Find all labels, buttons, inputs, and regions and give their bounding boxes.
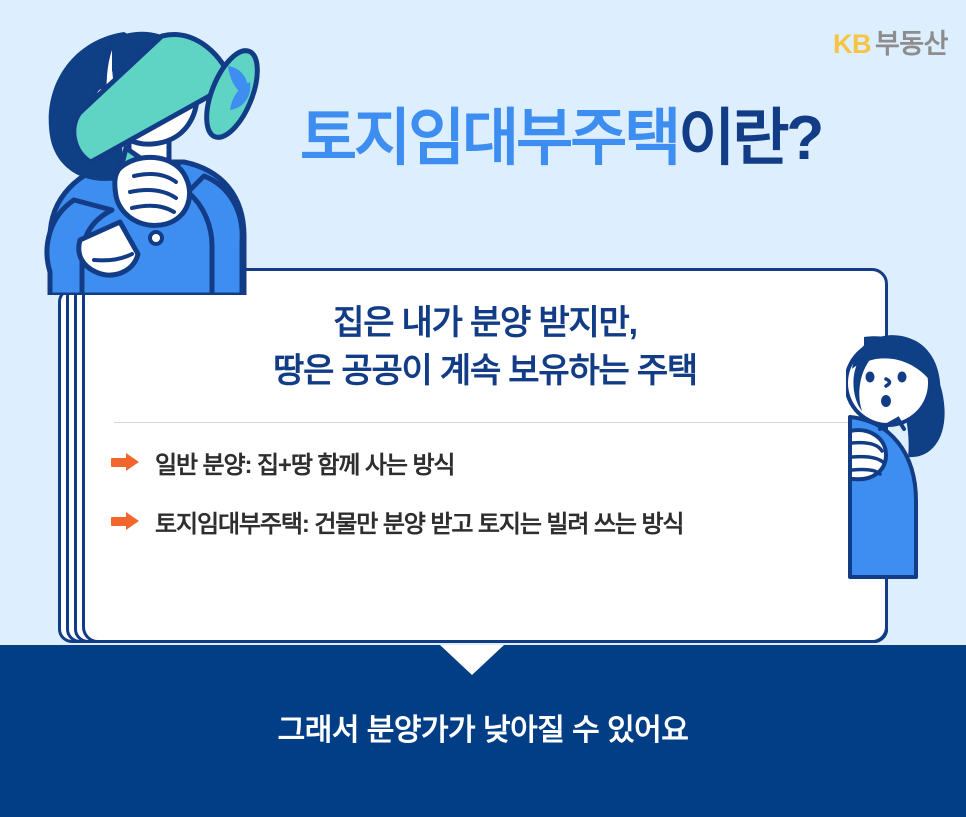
list-item: 토지임대부주택: 건물만 분양 받고 토지는 빌려 쓰는 방식 xyxy=(111,504,885,539)
woman-peeking-illustration xyxy=(846,325,966,645)
woman-with-megaphone-illustration xyxy=(16,10,346,295)
card-title: 집은 내가 분양 받지만, 땅은 공공이 계속 보유하는 주택 xyxy=(85,299,885,396)
bullet-label: 일반 분양: 집+땅 함께 사는 방식 xyxy=(155,445,454,480)
card-title-line-2: 땅은 공공이 계속 보유하는 주택 xyxy=(85,347,885,395)
bullet-label: 토지임대부주택: 건물만 분양 받고 토지는 빌려 쓰는 방식 xyxy=(155,504,683,539)
page-title: 토지임대부주택이란? xyxy=(300,108,821,170)
kb-brand-logo: KB부동산 xyxy=(833,22,948,61)
logo-name: 부동산 xyxy=(875,29,948,59)
banner-text: 그래서 분양가가 낮아질 수 있어요 xyxy=(0,705,966,749)
banner-pointer-notch xyxy=(440,645,504,675)
arrow-right-icon xyxy=(111,451,141,473)
logo-mark: KB xyxy=(833,29,871,59)
list-item: 일반 분양: 집+땅 함께 사는 방식 xyxy=(111,445,885,480)
page-title-highlight: 토지임대부주택 xyxy=(300,104,678,173)
arrow-right-icon xyxy=(111,510,141,532)
page-title-suffix: 이란? xyxy=(678,104,821,173)
card-title-line-1: 집은 내가 분양 받지만, xyxy=(85,299,885,347)
bullet-list: 일반 분양: 집+땅 함께 사는 방식 토지임대부주택: 건물만 분양 받고 토… xyxy=(85,445,885,539)
definition-card: 집은 내가 분양 받지만, 땅은 공공이 계속 보유하는 주택 일반 분양: 집… xyxy=(82,268,888,643)
card-divider xyxy=(114,422,856,423)
infographic-root: KB부동산 토지임대부주택이란? xyxy=(0,0,966,817)
